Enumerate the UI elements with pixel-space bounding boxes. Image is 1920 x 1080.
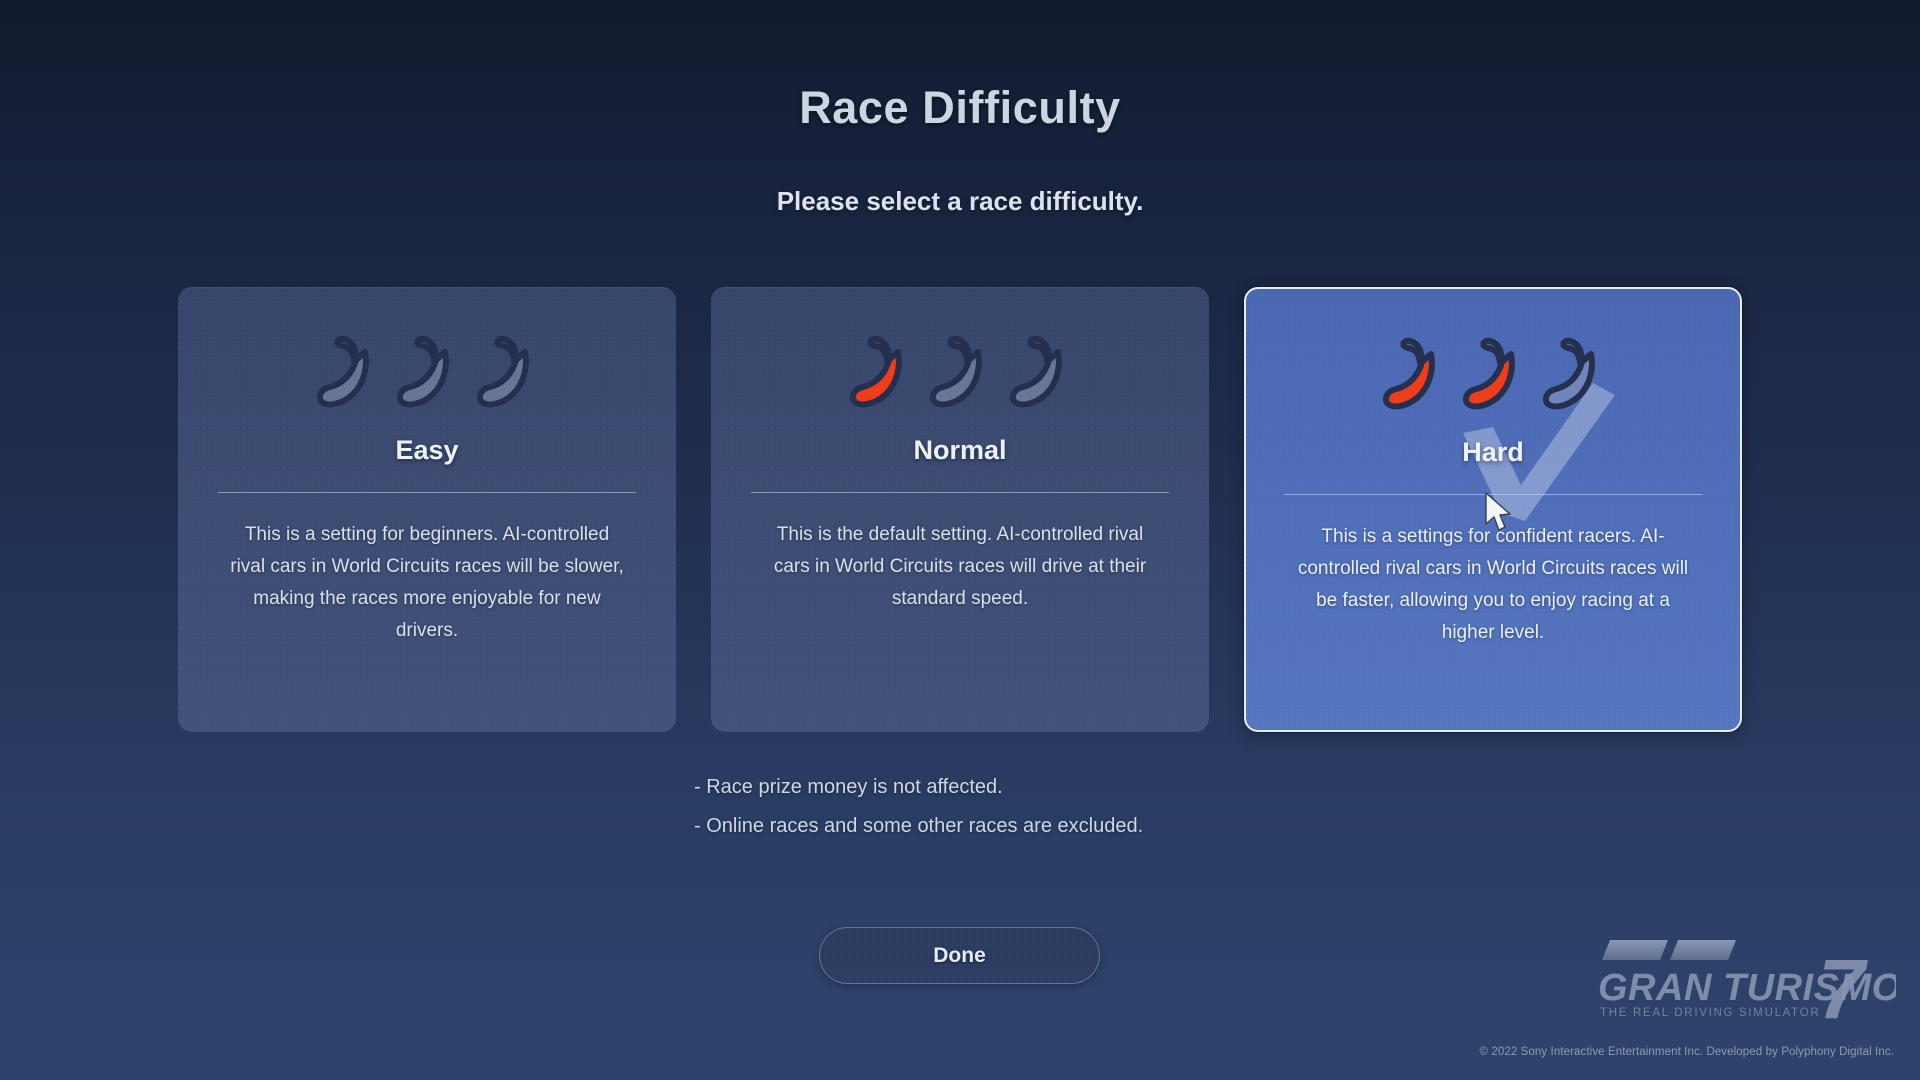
pepper-rating xyxy=(845,329,1075,417)
pepper-rating xyxy=(312,329,542,417)
card-description: This is the default setting. AI-controll… xyxy=(760,519,1160,615)
race-difficulty-screen: Race Difficulty Please select a race dif… xyxy=(0,0,1920,1080)
chili-pepper-empty-icon xyxy=(925,332,995,414)
card-description: This is a settings for confident racers.… xyxy=(1293,521,1693,649)
chili-pepper-filled-icon xyxy=(1378,334,1448,416)
card-description: This is a setting for beginners. AI-cont… xyxy=(227,519,627,647)
gran-turismo-7-logo: GRAN TURISMO THE REAL DRIVING SIMULATOR … xyxy=(1596,938,1896,1024)
chili-pepper-empty-icon xyxy=(392,332,462,414)
difficulty-card-normal[interactable]: NormalThis is the default setting. AI-co… xyxy=(711,287,1209,732)
chili-pepper-empty-icon xyxy=(1005,332,1075,414)
card-divider xyxy=(751,492,1169,493)
svg-text:THE REAL DRIVING SIMULATOR: THE REAL DRIVING SIMULATOR xyxy=(1600,1007,1820,1019)
card-title: Hard xyxy=(1462,437,1524,468)
chili-pepper-empty-icon xyxy=(312,332,382,414)
chili-pepper-filled-icon xyxy=(1458,334,1528,416)
copyright-text: © 2022 Sony Interactive Entertainment In… xyxy=(1479,1046,1894,1058)
card-title: Easy xyxy=(395,435,458,466)
card-divider xyxy=(1284,494,1702,495)
difficulty-card-easy[interactable]: EasyThis is a setting for beginners. AI-… xyxy=(178,287,676,732)
chili-pepper-empty-icon xyxy=(1538,334,1608,416)
notes-list: - Race prize money is not affected.- Onl… xyxy=(694,768,1143,846)
page-subtitle: Please select a race difficulty. xyxy=(0,186,1920,217)
note-item: - Online races and some other races are … xyxy=(694,807,1143,846)
header: Race Difficulty Please select a race dif… xyxy=(0,0,1920,217)
difficulty-card-list: EasyThis is a setting for beginners. AI-… xyxy=(178,287,1742,732)
note-item: - Race prize money is not affected. xyxy=(694,768,1143,807)
difficulty-card-hard[interactable]: HardThis is a settings for confident rac… xyxy=(1244,287,1742,732)
page-title: Race Difficulty xyxy=(0,82,1920,134)
done-button[interactable]: Done xyxy=(819,927,1100,984)
card-divider xyxy=(218,492,636,493)
chili-pepper-filled-icon xyxy=(845,332,915,414)
svg-text:7: 7 xyxy=(1818,942,1868,1024)
done-button-label: Done xyxy=(933,944,986,968)
pepper-rating xyxy=(1378,331,1608,419)
card-title: Normal xyxy=(913,435,1006,466)
chili-pepper-empty-icon xyxy=(472,332,542,414)
